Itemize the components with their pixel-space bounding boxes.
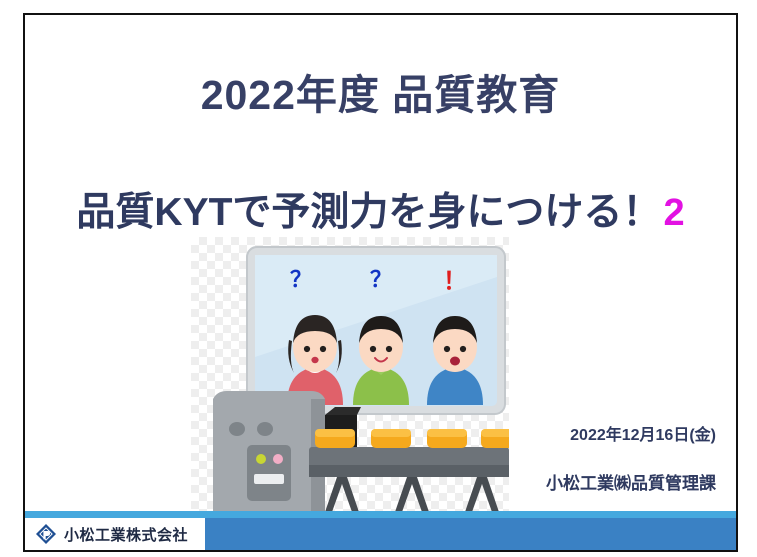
thought-mark-q2: ？ [370, 267, 392, 292]
svg-text:！: ！ [443, 268, 467, 295]
thought-mark-excl: ！ [443, 268, 467, 295]
conveyor-box [315, 429, 355, 448]
footer-bar: 小松工業株式会社 [25, 511, 736, 550]
footer-accent-strip [25, 511, 736, 518]
footer-company-name: 小松工業株式会社 [64, 524, 188, 545]
subtitle-main-text: 品質KYTで予測力を身につける！ [76, 191, 661, 234]
conveyor-box [427, 429, 467, 448]
thought-mark-q1: ？ [290, 267, 312, 292]
illustration-svg: ？ ？ ！ [191, 237, 509, 512]
illustration-image: ？ ？ ！ [191, 237, 509, 512]
subtitle-accent-number: 2 [663, 192, 684, 234]
conveyor-box [481, 429, 509, 448]
svg-text:？: ？ [370, 267, 392, 292]
slide-root: 2022年度 品質教育 品質KYTで予測力を身につける！2 ？ ？ [0, 0, 757, 557]
page-subtitle: 品質KYTで予測力を身につける！2 [25, 181, 736, 237]
organization-name: 小松工業㈱品質管理課 [546, 469, 716, 494]
slide-frame: 2022年度 品質教育 品質KYTで予測力を身につける！2 ？ ？ [23, 13, 738, 552]
page-title: 2022年度 品質教育 [25, 61, 736, 121]
conveyor-box [371, 429, 411, 448]
diamond-logo-icon [35, 523, 57, 545]
svg-text:？: ？ [290, 267, 312, 292]
presentation-date: 2022年12月16日(金) [570, 421, 716, 445]
conveyor-belt [309, 429, 509, 512]
footer-logo-box: 小松工業株式会社 [25, 518, 205, 550]
